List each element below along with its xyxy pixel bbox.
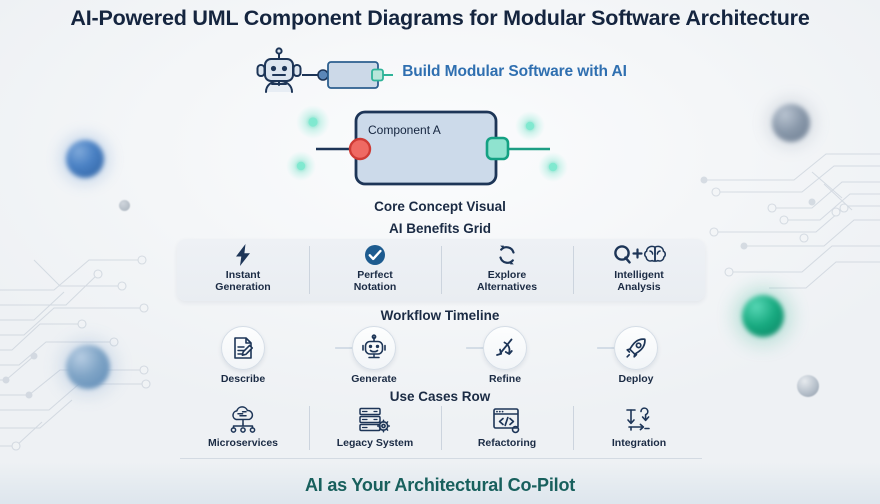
benefits-caption: AI Benefits Grid (0, 221, 880, 236)
check-circle-icon (364, 244, 386, 266)
workflow-step-circle (614, 326, 658, 370)
benefit-label-line1: Perfect (357, 269, 393, 281)
core-concept-caption: Core Concept Visual (0, 199, 880, 214)
integration-flow-icon (624, 406, 654, 434)
hero-tagline: Build Modular Software with AI (402, 63, 627, 81)
workflow-caption: Workflow Timeline (0, 308, 880, 323)
benefit-instant-generation[interactable]: Instant Generation (177, 239, 309, 301)
use-case-legacy-system[interactable]: Legacy System (309, 404, 441, 456)
lightning-bolt-icon (233, 244, 253, 266)
workflow-step-deploy[interactable]: Deploy (584, 326, 688, 385)
refine-arrows-icon (493, 336, 517, 360)
benefit-label-line2: Notation (354, 281, 397, 293)
use-cases-caption: Use Cases Row (0, 389, 880, 404)
workflow-step-circle (352, 326, 396, 370)
server-gear-icon (358, 406, 392, 434)
hero-row: Build Modular Software with AI (0, 46, 880, 98)
code-window-icon (492, 406, 522, 434)
cloud-network-icon (228, 406, 258, 434)
circuit-pattern-left (0, 250, 199, 465)
ai-benefits-grid: Instant Generation Perfect Notation (177, 239, 705, 301)
use-case-microservices[interactable]: Microservices (177, 404, 309, 456)
benefit-label-line2: Alternatives (477, 281, 537, 293)
document-edit-icon (232, 336, 254, 360)
workflow-step-label: Deploy (584, 373, 688, 385)
use-case-refactoring[interactable]: Refactoring (441, 404, 573, 456)
refresh-cycle-icon (496, 244, 518, 266)
workflow-step-circle (221, 326, 265, 370)
workflow-step-label: Generate (322, 373, 426, 385)
benefit-label-line2: Generation (215, 281, 270, 293)
component-name-text: Component A (368, 123, 441, 137)
search-brain-icon (613, 244, 665, 266)
workflow-step-label: Describe (191, 373, 295, 385)
robot-icon (253, 46, 395, 98)
use-case-label: Legacy System (337, 437, 413, 449)
benefit-label-line1: Explore (488, 269, 527, 281)
benefit-perfect-notation[interactable]: Perfect Notation (309, 239, 441, 301)
use-case-label: Integration (612, 437, 666, 449)
workflow-step-describe[interactable]: Describe (191, 326, 295, 385)
benefit-explore-alternatives[interactable]: Explore Alternatives (441, 239, 573, 301)
rocket-icon (624, 336, 648, 360)
use-case-label: Microservices (208, 437, 278, 449)
uml-component-diagram: Component A (268, 104, 588, 190)
footer-tagline: AI as Your Architectural Co-Pilot (0, 475, 880, 496)
benefit-intelligent-analysis[interactable]: Intelligent Analysis (573, 239, 705, 301)
robot-head-icon (361, 335, 387, 361)
benefit-label-line1: Intelligent (614, 269, 664, 281)
workflow-step-circle (483, 326, 527, 370)
workflow-timeline: Describe (177, 326, 705, 388)
use-case-label: Refactoring (478, 437, 536, 449)
use-cases-row: Microservices (177, 404, 705, 456)
benefit-label-line2: Analysis (617, 281, 660, 293)
use-case-integration[interactable]: Integration (573, 404, 705, 456)
decorative-sphere-blue-lower-left (66, 345, 110, 389)
workflow-step-generate[interactable]: Generate (322, 326, 426, 385)
core-concept-visual: Component A (0, 104, 880, 190)
benefit-label-line1: Instant (226, 269, 260, 281)
workflow-step-label: Refine (453, 373, 557, 385)
provided-interface-ball-icon (350, 139, 370, 159)
required-interface-socket-icon (487, 138, 508, 159)
workflow-step-refine[interactable]: Refine (453, 326, 557, 385)
page-title: AI-Powered UML Component Diagrams for Mo… (0, 6, 880, 31)
